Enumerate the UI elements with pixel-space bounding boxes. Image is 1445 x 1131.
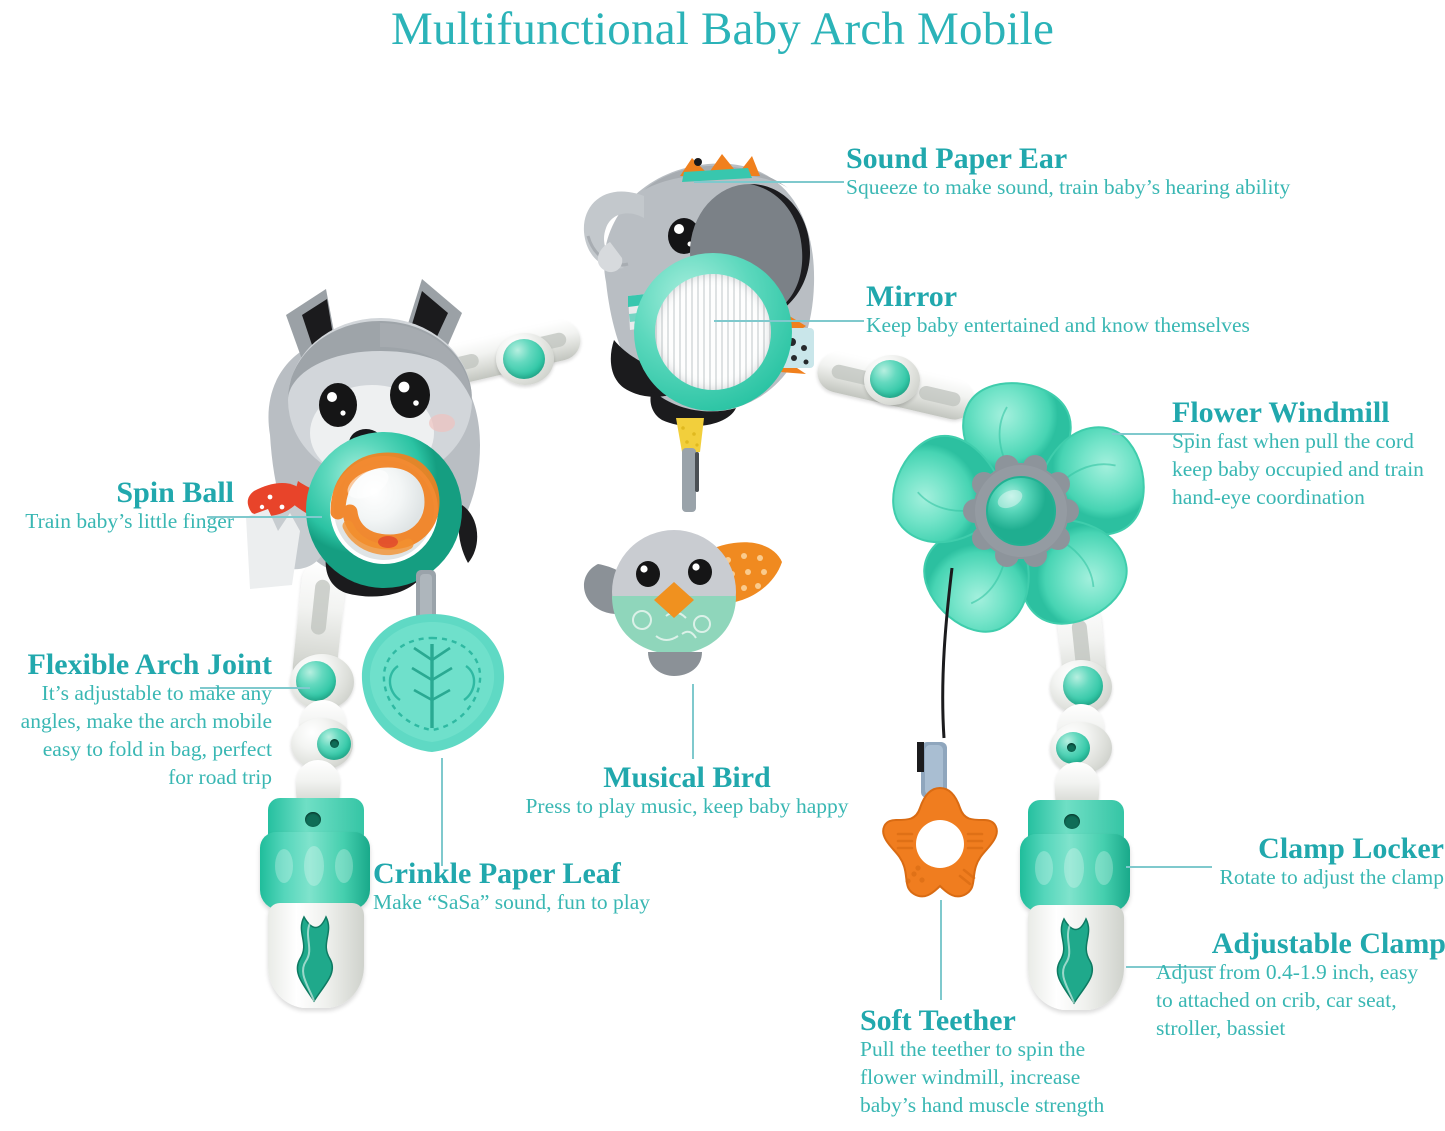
annotation-description-line-2: angles, make the arch mobile <box>0 708 272 736</box>
clamp-locker-hole-left <box>305 812 321 827</box>
clamp-grip-dimple <box>1064 848 1084 888</box>
annotation-description-line-3: stroller, bassiet <box>1156 1015 1445 1043</box>
annotation-heading: Mirror <box>866 281 1366 312</box>
crinkle-leaf <box>358 608 508 758</box>
annotation-heading: Soft Teether <box>860 1005 1190 1036</box>
annotation-crinkle-paper-leaf: Crinkle Paper Leaf Make “SaSa” sound, fu… <box>373 858 713 917</box>
annotation-description-line-3: easy to fold in bag, perfect <box>0 736 272 764</box>
leader-line-sound-paper-ear <box>694 181 844 183</box>
annotation-adjustable-clamp: Adjustable Clamp Adjust from 0.4-1.9 inc… <box>1156 928 1445 1043</box>
annotation-sound-paper-ear: Sound Paper Ear Squeeze to make sound, t… <box>846 143 1376 202</box>
annotation-description-line-1: It’s adjustable to make any <box>0 680 272 708</box>
annotation-description: Rotate to adjust the clamp <box>1182 864 1444 892</box>
annotation-description: Train baby’s little finger <box>0 508 234 536</box>
annotation-soft-teether: Soft Teether Pull the teether to spin th… <box>860 1005 1190 1120</box>
annotation-flower-windmill: Flower Windmill Spin fast when pull the … <box>1172 397 1445 512</box>
annotation-description: Keep baby entertained and know themselve… <box>866 312 1366 340</box>
annotation-mirror: Mirror Keep baby entertained and know th… <box>866 281 1366 340</box>
clamp-jaw-pad-left <box>290 915 342 1003</box>
bird-plush <box>578 512 798 677</box>
clamp-grip-dimple <box>275 849 293 883</box>
annotation-flexible-arch-joint: Flexible Arch Joint It’s adjustable to m… <box>0 649 272 792</box>
annotation-spin-ball: Spin Ball Train baby’s little finger <box>0 477 234 536</box>
clamp-grip-dimple <box>304 846 324 886</box>
arch-joint-pin-left <box>330 739 339 748</box>
annotation-description: Make “SaSa” sound, fun to play <box>373 889 713 917</box>
annotation-description-line-4: for road trip <box>0 764 272 792</box>
clamp-jaw-pad-right <box>1050 917 1102 1005</box>
annotation-description-line-2: flower windmill, increase <box>860 1064 1190 1092</box>
annotation-heading: Clamp Locker <box>1182 833 1444 864</box>
leader-line-leaf <box>441 758 443 866</box>
leader-line-mirror <box>714 320 864 322</box>
annotation-heading: Adjustable Clamp <box>1156 928 1445 959</box>
mirror-disc <box>655 274 771 390</box>
annotation-description-line-1: Spin fast when pull the cord <box>1172 428 1445 456</box>
annotation-description-line-2: keep baby occupied and train <box>1172 456 1445 484</box>
annotation-heading: Sound Paper Ear <box>846 143 1376 174</box>
annotation-description-line-3: hand-eye coordination <box>1172 484 1445 512</box>
product-infographic: Multifunctional Baby Arch Mobile <box>0 0 1445 1131</box>
annotation-musical-bird: Musical Bird Press to play music, keep b… <box>492 762 882 821</box>
annotation-heading: Crinkle Paper Leaf <box>373 858 713 889</box>
clamp-grip-dimple <box>1035 851 1053 885</box>
arch-joint-pin-right <box>1067 743 1076 752</box>
clamp-grip-dimple <box>1095 851 1113 885</box>
annotation-heading: Musical Bird <box>492 762 882 793</box>
annotation-description-line-1: Adjust from 0.4-1.9 inch, easy <box>1156 959 1445 987</box>
arch-joint-ball-right <box>1063 666 1103 706</box>
arch-joint-ball-left <box>296 661 336 701</box>
clamp-locker-hole-right <box>1064 814 1080 829</box>
annotation-heading: Flower Windmill <box>1172 397 1445 428</box>
flower-windmill <box>874 364 1168 658</box>
annotation-heading: Spin Ball <box>0 477 234 508</box>
annotation-heading: Flexible Arch Joint <box>0 649 272 680</box>
annotation-description: Squeeze to make sound, train baby’s hear… <box>846 174 1376 202</box>
annotation-description: Press to play music, keep baby happy <box>492 793 882 821</box>
leader-line-soft-teether <box>940 900 942 1000</box>
annotation-description-line-2: to attached on crib, car seat, <box>1156 987 1445 1015</box>
leader-line-musical-bird <box>692 684 694 759</box>
spin-ball-rattle <box>304 430 464 590</box>
annotation-description-line-1: Pull the teether to spin the <box>860 1036 1190 1064</box>
clamp-grip-dimple <box>335 849 353 883</box>
annotation-description-line-3: baby’s hand muscle strength <box>860 1092 1190 1120</box>
annotation-clamp-locker: Clamp Locker Rotate to adjust the clamp <box>1182 833 1444 892</box>
pull-cord <box>930 568 960 758</box>
orange-star-teether <box>880 786 1000 902</box>
